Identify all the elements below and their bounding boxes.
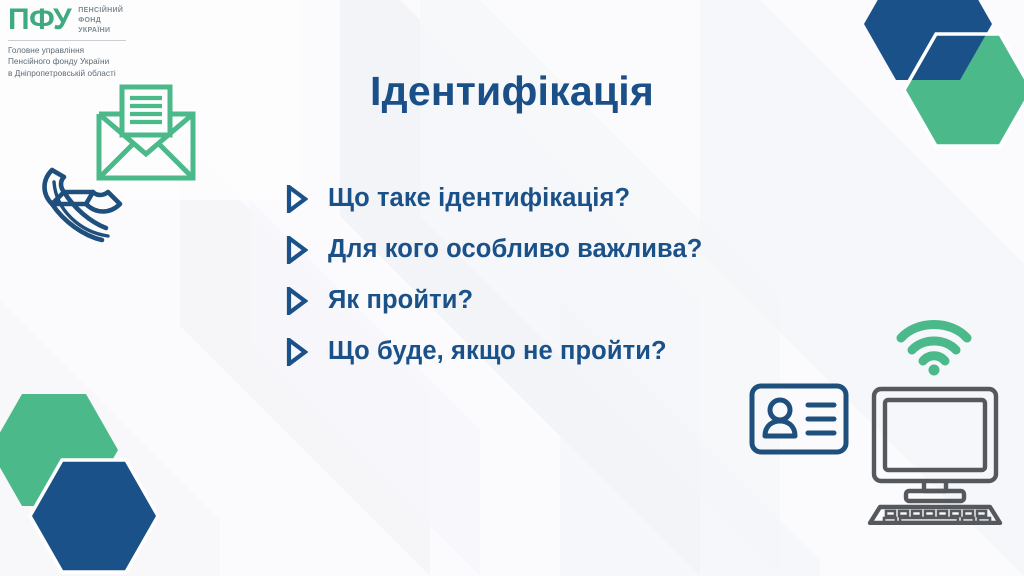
hexagon-cluster-bottom-left — [0, 386, 190, 576]
logo-org-line-2: ФОНД — [78, 16, 123, 26]
list-item-label: Що буде, якщо не пройти? — [328, 337, 667, 366]
list-item: Що таке ідентифікація? — [286, 173, 926, 224]
triangle-arrow-icon — [286, 338, 308, 366]
list-item: Для кого особливо важлива? — [286, 224, 926, 275]
logo-dept-line-2: Пенсійного фонду України — [8, 56, 238, 68]
agenda-list: Що таке ідентифікація? Для кого особливо… — [286, 173, 926, 377]
presentation-slide: ПФУ ПЕНСІЙНИЙ ФОНД УКРАЇНИ Головне управ… — [0, 0, 1024, 576]
list-item: Як пройти? — [286, 275, 926, 326]
logo-org-line-3: УКРАЇНИ — [78, 26, 123, 36]
telephone-handset-icon — [34, 148, 144, 253]
logo-dept-line-1: Головне управління — [8, 45, 238, 57]
list-item-label: Що таке ідентифікація? — [328, 184, 630, 213]
triangle-arrow-icon — [286, 287, 308, 315]
logo-org-line-1: ПЕНСІЙНИЙ — [78, 6, 123, 16]
list-item-label: Як пройти? — [328, 286, 473, 315]
triangle-arrow-icon — [286, 185, 308, 213]
list-item: Що буде, якщо не пройти? — [286, 326, 926, 377]
logo-mark-pfu: ПФУ — [8, 5, 71, 35]
id-card-icon — [749, 383, 849, 455]
logo-org-name: ПЕНСІЙНИЙ ФОНД УКРАЇНИ — [78, 4, 123, 36]
list-item-label: Для кого особливо важлива? — [328, 235, 702, 264]
wifi-icon — [895, 318, 973, 376]
triangle-arrow-icon — [286, 236, 308, 264]
desktop-computer-icon — [866, 385, 1004, 525]
logo-divider — [8, 40, 126, 41]
